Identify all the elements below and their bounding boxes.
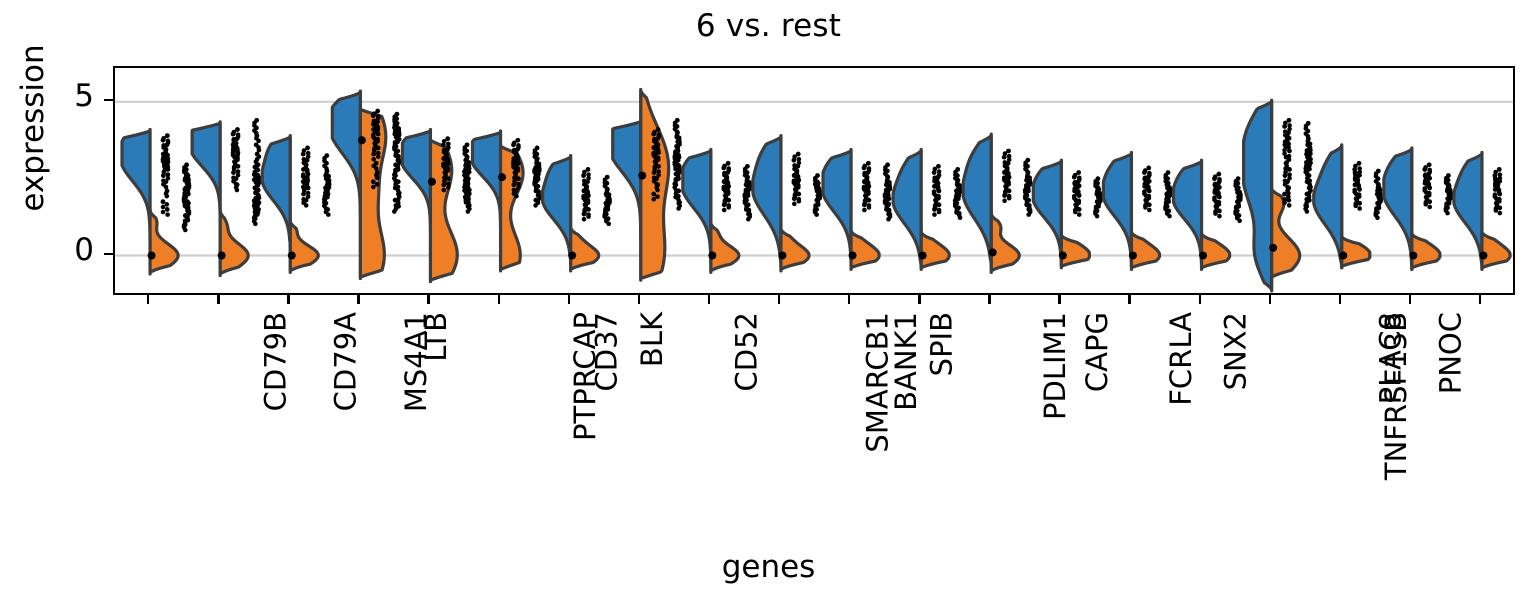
data-point	[371, 113, 376, 118]
data-point	[1095, 214, 1100, 219]
data-point	[164, 185, 169, 190]
data-point	[371, 152, 376, 157]
data-point	[514, 194, 519, 199]
data-point	[445, 163, 450, 168]
violin-half-left	[683, 149, 711, 261]
data-point	[376, 146, 381, 151]
violin-half-right	[781, 228, 809, 271]
x-tick-mark	[988, 295, 990, 304]
data-point	[371, 179, 376, 184]
y-tick-label: 5	[46, 78, 94, 114]
x-tick-label-PNOC: PNOC	[1433, 312, 1467, 394]
violin-half-left	[332, 91, 360, 212]
violin-half-left	[823, 149, 851, 264]
data-point	[721, 166, 726, 171]
violin-CAPG[interactable]	[963, 134, 1032, 272]
violin-CD52[interactable]	[613, 90, 682, 281]
data-point	[1072, 175, 1077, 180]
data-point	[257, 148, 262, 153]
x-tick-mark	[147, 295, 149, 304]
data-point	[1142, 170, 1147, 175]
data-point	[466, 209, 471, 214]
violin-half-right	[290, 220, 318, 272]
data-point	[581, 173, 586, 178]
data-point	[1026, 212, 1031, 217]
x-tick-mark	[1199, 295, 1201, 304]
data-point	[932, 207, 937, 212]
x-tick-mark	[778, 295, 780, 304]
violin-PDLIM1[interactable]	[893, 149, 962, 269]
violin-half-right	[220, 209, 248, 275]
data-point	[1282, 192, 1287, 197]
data-point	[1237, 218, 1242, 223]
data-point	[1145, 186, 1150, 191]
x-tick-label-FCRLA: FCRLA	[1164, 312, 1198, 406]
violin-half-left	[543, 156, 571, 264]
data-point	[1006, 177, 1011, 182]
data-point	[1498, 211, 1503, 216]
x-tick-label-SPIB: SPIB	[924, 312, 958, 376]
data-point	[1305, 169, 1310, 174]
data-point	[1377, 202, 1382, 207]
violin-plot-figure: 6 vs. rest expression genes 05CD79BCD79A…	[0, 0, 1537, 609]
x-tick-mark	[918, 295, 920, 304]
data-point	[1497, 192, 1502, 197]
data-point	[1287, 203, 1292, 208]
violin-half-right	[571, 226, 599, 271]
data-point	[231, 150, 236, 155]
data-point	[1305, 209, 1310, 214]
data-point	[726, 198, 731, 203]
data-point	[795, 180, 800, 185]
median-marker	[1479, 252, 1487, 260]
data-point	[606, 222, 611, 227]
median-marker	[1199, 252, 1207, 260]
data-point	[651, 132, 656, 137]
median-marker	[778, 252, 786, 260]
data-point	[656, 142, 661, 147]
violin-half-right	[1482, 231, 1510, 269]
data-point	[1286, 198, 1291, 203]
data-point	[1375, 215, 1380, 220]
data-point	[166, 165, 171, 170]
violin-BLK[interactable]	[543, 156, 612, 271]
data-point	[1283, 173, 1288, 178]
data-point	[937, 210, 942, 215]
data-point	[676, 206, 681, 211]
x-tick-mark	[357, 295, 359, 304]
data-point	[231, 170, 236, 175]
violin-svg	[115, 68, 1513, 293]
data-point	[722, 202, 727, 207]
violin-TNFRSF13B[interactable]	[1174, 160, 1243, 269]
data-point	[866, 198, 871, 203]
data-point	[1147, 208, 1152, 213]
x-tick-label-CAPG: CAPG	[1080, 312, 1114, 392]
violin-half-right	[921, 231, 949, 269]
data-point	[676, 169, 681, 174]
data-point	[464, 200, 469, 205]
data-point	[1007, 196, 1012, 201]
data-point	[1353, 204, 1358, 209]
data-point	[165, 202, 170, 207]
data-point	[791, 158, 796, 163]
x-tick-mark	[1339, 295, 1341, 304]
data-point	[655, 188, 660, 193]
median-marker	[1059, 252, 1067, 260]
x-tick-mark	[568, 295, 570, 304]
data-point	[533, 203, 538, 208]
data-point	[937, 202, 942, 207]
violin-half-left	[1454, 153, 1482, 268]
data-point	[651, 192, 656, 197]
data-point	[371, 157, 376, 162]
violin-half-left	[192, 122, 220, 223]
x-tick-label-LTB: LTB	[419, 312, 453, 362]
violin-half-left	[1384, 148, 1412, 269]
data-point	[375, 175, 380, 180]
data-point	[322, 197, 327, 202]
data-point	[1357, 201, 1362, 206]
median-marker	[919, 252, 927, 260]
data-point	[1357, 206, 1362, 211]
data-point	[1024, 192, 1029, 197]
data-point	[375, 182, 380, 187]
data-point	[441, 182, 446, 187]
data-point	[255, 212, 260, 217]
x-tick-label-CD37: CD37	[589, 312, 623, 391]
y-axis-label: expression	[15, 33, 51, 223]
x-tick-mark	[287, 295, 289, 304]
data-point	[867, 205, 872, 210]
data-point	[511, 182, 516, 187]
data-point	[375, 119, 380, 124]
data-point	[656, 164, 661, 169]
x-tick-mark	[1128, 295, 1130, 304]
data-point	[231, 142, 236, 147]
data-point	[165, 212, 170, 217]
median-marker	[1129, 252, 1137, 260]
x-axis-label: genes	[0, 549, 1537, 585]
data-point	[1423, 173, 1428, 178]
y-tick-mark	[104, 99, 113, 101]
violin-canvas	[115, 68, 1513, 293]
data-point	[301, 167, 306, 172]
data-point	[231, 132, 236, 137]
violin-SNX2[interactable]	[1103, 153, 1172, 270]
violin-half-left	[613, 120, 641, 238]
chart-title: 6 vs. rest	[0, 8, 1537, 44]
data-point	[1287, 149, 1292, 154]
data-point	[1217, 214, 1222, 219]
data-point	[446, 185, 451, 190]
violin-half-right	[711, 222, 739, 273]
data-point	[958, 215, 963, 220]
data-point	[746, 217, 751, 222]
x-tick-mark	[217, 295, 219, 304]
data-point	[1282, 200, 1287, 205]
data-point	[1096, 202, 1101, 207]
median-marker	[849, 252, 857, 260]
y-tick-mark	[104, 253, 113, 255]
data-point	[1355, 180, 1360, 185]
data-point	[161, 173, 166, 178]
data-point	[1284, 145, 1289, 150]
violin-CD82[interactable]	[1454, 153, 1513, 270]
data-point	[1494, 208, 1499, 213]
data-point	[653, 152, 658, 157]
violin-half-right	[150, 209, 178, 274]
data-point	[185, 206, 190, 211]
violin-half-right	[851, 229, 879, 269]
data-point	[161, 199, 166, 204]
data-point	[953, 198, 958, 203]
data-point	[374, 166, 379, 171]
data-point	[1213, 211, 1218, 216]
data-point	[1357, 187, 1362, 192]
violin-half-left	[963, 134, 991, 266]
x-tick-mark	[1058, 295, 1060, 304]
data-point	[1215, 192, 1220, 197]
data-point	[886, 217, 891, 222]
data-point	[1072, 181, 1077, 186]
violin-MS4A1[interactable]	[262, 136, 331, 273]
violin-half-left	[262, 136, 290, 248]
data-point	[1425, 183, 1430, 188]
data-point	[1423, 202, 1428, 207]
violin-half-right	[1202, 232, 1230, 269]
violin-half-left	[473, 131, 501, 228]
data-point	[235, 152, 240, 157]
data-point	[1282, 124, 1287, 129]
data-point	[256, 139, 261, 144]
data-point	[1427, 205, 1432, 210]
data-point	[651, 197, 656, 202]
violin-half-right	[1131, 231, 1159, 269]
data-point	[1212, 182, 1217, 187]
violin-half-left	[1174, 160, 1202, 266]
data-point	[1002, 155, 1007, 160]
median-marker	[708, 252, 716, 260]
median-marker	[428, 178, 436, 186]
violin-PTPRCAP[interactable]	[402, 129, 471, 281]
x-tick-label-BLK: BLK	[635, 312, 669, 367]
violin-PLAC8[interactable]	[1244, 100, 1313, 291]
data-point	[1007, 189, 1012, 194]
x-tick-mark	[848, 295, 850, 304]
data-point	[1237, 197, 1242, 202]
data-point	[1497, 205, 1502, 210]
data-point	[1496, 186, 1501, 191]
data-point	[253, 222, 258, 227]
data-point	[932, 212, 937, 217]
x-tick-label-CD79A: CD79A	[328, 312, 362, 411]
plot-area	[113, 66, 1515, 295]
violin-half-left	[893, 149, 921, 267]
data-point	[796, 192, 801, 197]
data-point	[301, 192, 306, 197]
violin-half-right	[1342, 236, 1370, 268]
data-point	[1143, 205, 1148, 210]
data-point	[1077, 212, 1082, 217]
violin-half-right	[1061, 234, 1089, 268]
data-point	[371, 185, 376, 190]
x-tick-label-PLAC8: PLAC8	[1373, 312, 1407, 404]
median-marker	[568, 252, 576, 260]
violin-BANK1[interactable]	[753, 136, 822, 271]
data-point	[1077, 207, 1082, 212]
data-point	[1212, 176, 1217, 181]
data-point	[586, 207, 591, 212]
data-point	[161, 210, 166, 215]
median-marker	[358, 136, 366, 144]
data-point	[304, 203, 309, 208]
x-tick-label-BANK1: BANK1	[889, 312, 923, 411]
violin-half-left	[1244, 100, 1272, 291]
data-point	[797, 199, 802, 204]
data-point	[862, 166, 867, 171]
data-point	[1142, 176, 1147, 181]
data-point	[446, 176, 451, 181]
data-point	[816, 195, 821, 200]
data-point	[722, 208, 727, 213]
data-point	[744, 197, 749, 202]
data-point	[301, 152, 306, 157]
x-tick-mark	[638, 295, 640, 304]
violin-CD37[interactable]	[473, 131, 542, 271]
data-point	[1447, 198, 1452, 203]
data-point	[936, 186, 941, 191]
data-point	[1422, 167, 1427, 172]
data-point	[305, 182, 310, 187]
data-point	[586, 214, 591, 219]
x-tick-mark	[427, 295, 429, 304]
violin-SMIM14[interactable]	[1384, 148, 1453, 269]
data-point	[1445, 211, 1450, 216]
data-point	[1002, 193, 1007, 198]
violin-FCRLA[interactable]	[1033, 160, 1102, 268]
data-point	[652, 170, 657, 175]
x-tick-label-PDLIM1: PDLIM1	[1038, 312, 1072, 420]
median-marker	[1339, 252, 1347, 260]
data-point	[515, 162, 520, 167]
data-point	[392, 209, 397, 214]
violin-LTB[interactable]	[332, 91, 401, 279]
data-point	[236, 164, 241, 169]
data-point	[511, 142, 516, 147]
x-tick-mark	[498, 295, 500, 304]
data-point	[326, 212, 331, 217]
data-point	[301, 185, 306, 190]
y-tick-label: 0	[46, 232, 94, 268]
violin-half-left	[402, 129, 430, 229]
data-point	[1147, 202, 1152, 207]
violin-CD79B[interactable]	[122, 129, 191, 273]
data-point	[511, 159, 516, 164]
violin-half-right	[1412, 232, 1440, 269]
violin-PNOC[interactable]	[1314, 145, 1383, 268]
data-point	[792, 196, 797, 201]
x-tick-label-SNX2: SNX2	[1219, 312, 1253, 390]
data-point	[886, 202, 891, 207]
x-tick-label-CD52: CD52	[729, 312, 763, 391]
data-point	[235, 188, 240, 193]
data-point	[582, 212, 587, 217]
data-point	[165, 194, 170, 199]
data-point	[161, 205, 166, 210]
data-point	[866, 186, 871, 191]
data-point	[165, 207, 170, 212]
data-point	[792, 202, 797, 207]
data-point	[655, 194, 660, 199]
data-point	[1427, 199, 1432, 204]
x-tick-label-CD79B: CD79B	[258, 312, 292, 411]
data-point	[1073, 210, 1078, 215]
data-point	[1075, 191, 1080, 196]
data-point	[585, 195, 590, 200]
violin-half-left	[122, 129, 150, 240]
data-point	[301, 179, 306, 184]
violin-CD79A[interactable]	[192, 118, 261, 276]
violin-half-left	[1314, 145, 1342, 268]
data-point	[1002, 198, 1007, 203]
data-point	[183, 228, 188, 233]
median-marker	[989, 248, 997, 256]
x-tick-mark	[1409, 295, 1411, 304]
violin-half-left	[1103, 153, 1131, 267]
data-point	[441, 142, 446, 147]
data-point	[862, 202, 867, 207]
x-tick-mark	[708, 295, 710, 304]
x-tick-mark	[1269, 295, 1271, 304]
data-point	[725, 186, 730, 191]
data-point	[932, 170, 937, 175]
data-point	[373, 129, 378, 134]
violin-half-left	[1033, 160, 1061, 266]
data-point	[1217, 209, 1222, 214]
violin-SMARCB1[interactable]	[683, 149, 752, 272]
data-point	[536, 177, 541, 182]
data-point	[511, 165, 516, 170]
data-point	[1167, 214, 1172, 219]
data-point	[516, 176, 521, 181]
median-marker	[218, 252, 226, 260]
data-point	[862, 208, 867, 213]
violin-half-right	[991, 212, 1019, 272]
violin-SPIB[interactable]	[823, 149, 892, 269]
median-marker	[1409, 252, 1417, 260]
data-point	[161, 138, 166, 143]
data-point	[235, 147, 240, 152]
data-point	[442, 188, 447, 193]
data-point	[1164, 197, 1169, 202]
median-marker	[1269, 244, 1277, 252]
data-point	[726, 205, 731, 210]
median-marker	[148, 252, 156, 260]
x-tick-mark	[1479, 295, 1481, 304]
data-point	[376, 154, 381, 159]
data-point	[1353, 170, 1358, 175]
data-point	[1287, 167, 1292, 172]
median-marker	[288, 252, 296, 260]
data-point	[603, 206, 608, 211]
median-marker	[498, 173, 506, 181]
median-marker	[638, 172, 646, 180]
data-point	[814, 212, 819, 217]
data-point	[582, 217, 587, 222]
data-point	[1493, 176, 1498, 181]
data-point	[397, 137, 402, 142]
